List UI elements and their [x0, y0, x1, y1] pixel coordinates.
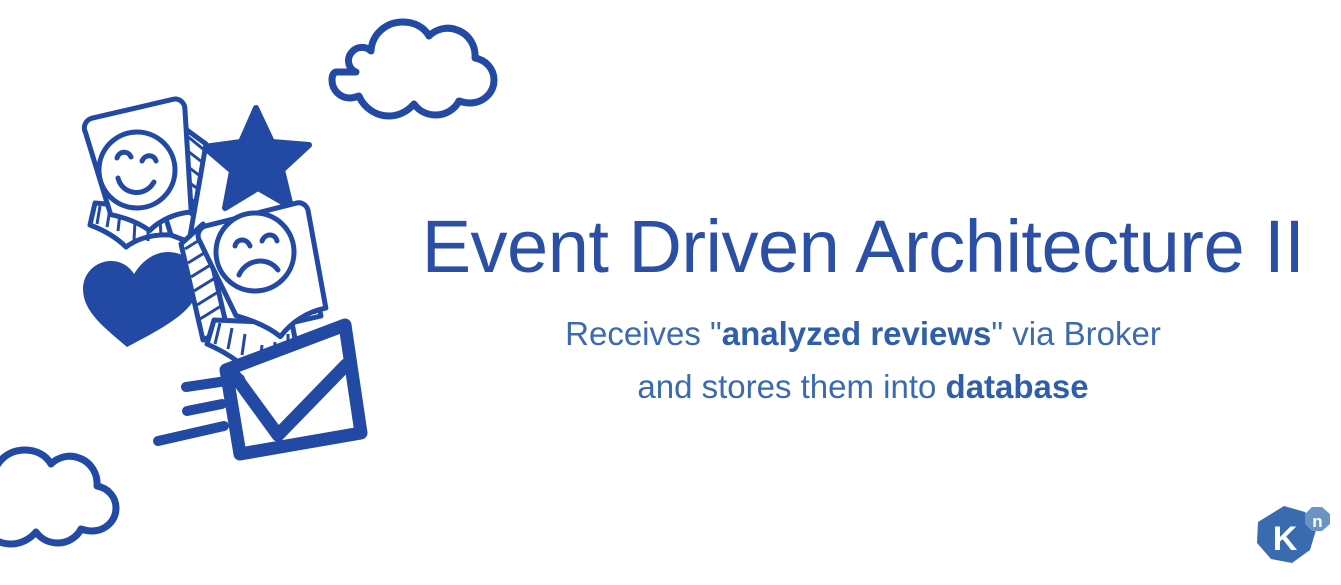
subtitle-line-2-emphasis: database	[946, 368, 1089, 405]
subtitle-line-2-before: and stores them into	[637, 368, 945, 405]
slide-root: Event Driven Architecture II Receives "a…	[0, 0, 1341, 585]
speed-lines-icon	[158, 379, 240, 441]
text-block: Event Driven Architecture II Receives "a…	[390, 208, 1336, 413]
subtitle-line-1-after: " via Broker	[991, 315, 1160, 352]
sad-review-card-icon	[181, 201, 329, 371]
star-icon	[204, 108, 309, 208]
subtitle-line-1: Receives "analyzed reviews" via Broker	[390, 308, 1336, 360]
page-title: Event Driven Architecture II	[390, 208, 1336, 286]
cloud-top-icon	[332, 22, 494, 116]
subtitle-line-2: and stores them into database	[390, 361, 1336, 413]
cloud-bottom-left-icon	[0, 450, 116, 544]
subtitle-line-1-emphasis: analyzed reviews	[722, 315, 992, 352]
kn-logo: K n	[1252, 503, 1334, 573]
heart-icon	[83, 252, 199, 347]
subtitle-line-1-before: Receives "	[565, 315, 722, 352]
happy-review-card-icon	[82, 98, 206, 247]
page-subtitle: Receives "analyzed reviews" via Broker a…	[390, 308, 1336, 412]
envelope-icon	[226, 325, 361, 454]
logo-primary-letter: K	[1273, 520, 1298, 558]
logo-badge-letter: n	[1312, 512, 1322, 531]
